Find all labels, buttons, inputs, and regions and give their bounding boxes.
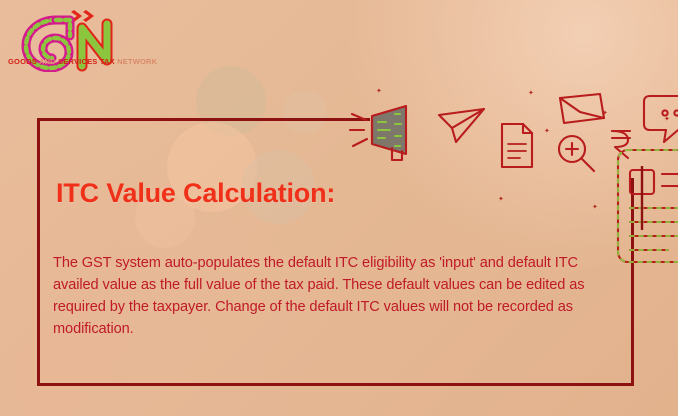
tagline-part-and: AND xyxy=(39,57,56,66)
tagline-part-network: NETWORK xyxy=(117,57,157,66)
sparkle-icon: ✦ xyxy=(528,90,534,97)
background-circle xyxy=(196,66,266,136)
page-title: ITC Value Calculation: xyxy=(56,178,335,209)
wifi-icon xyxy=(610,82,670,134)
megaphone-icon xyxy=(348,102,422,164)
sparkle-icon: ✦ xyxy=(498,196,504,203)
frame-border-bottom xyxy=(37,383,634,386)
tagline-part-goods: GOODS xyxy=(8,57,37,66)
poster-canvas: GOODS AND SERVICES TAX NETWORK ITC Value… xyxy=(0,0,678,416)
document-icon xyxy=(496,120,538,172)
envelope-icon xyxy=(556,90,608,128)
sparkle-icon: ✦ xyxy=(664,116,670,123)
background-circle xyxy=(283,90,327,134)
tagline-part-services: SERVICES TAX xyxy=(58,57,115,66)
body-text: The GST system auto-populates the defaul… xyxy=(53,252,613,340)
frame-border-left xyxy=(37,118,40,386)
rupee-icon xyxy=(606,126,636,162)
sparkle-icon: ✦ xyxy=(544,128,550,135)
cloud-upload-stem xyxy=(638,166,646,230)
sparkle-icon: ✦ xyxy=(376,88,382,95)
decorative-icon-cluster: ✦ ✦ ✦ ✦ ✦ ✦ ✦ xyxy=(348,84,678,214)
frame-border-top xyxy=(37,118,370,121)
sparkle-icon: ✦ xyxy=(592,204,598,211)
body-paragraph: The GST system auto-populates the defaul… xyxy=(53,252,613,340)
chat-bubble-icon xyxy=(642,90,678,146)
frame-border-right xyxy=(631,178,634,386)
logo-tagline: GOODS AND SERVICES TAX NETWORK xyxy=(8,57,157,66)
sparkle-icon: ✦ xyxy=(602,110,608,117)
magnifier-plus-icon xyxy=(554,132,598,176)
paper-plane-icon xyxy=(436,106,488,148)
